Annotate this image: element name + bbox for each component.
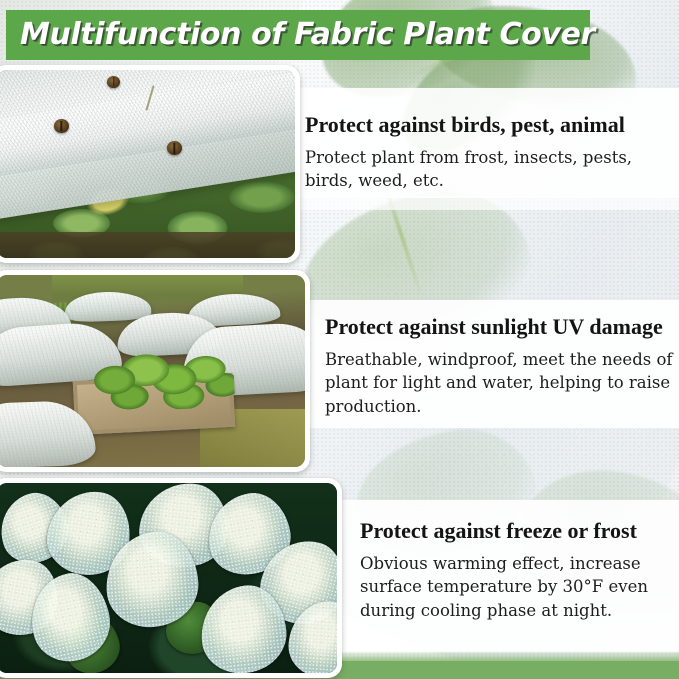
photo-frame [0, 275, 305, 467]
feature-text-uv-damage: Protect against sunlight UV damage Breat… [325, 314, 677, 419]
feature-text-freeze-frost: Protect against freeze or frost Obvious … [360, 518, 678, 623]
feature-photo-uv-damage [0, 270, 310, 472]
feature-body: Breathable, windproof, meet the needs of… [325, 348, 677, 419]
photo-soil [0, 232, 295, 258]
feature-text-birds-pest-animal: Protect against birds, pest, animal Prot… [305, 112, 677, 193]
product-infographic: Multifunction of Fabric Plant Cover [0, 0, 679, 679]
photo-frame [0, 483, 337, 673]
photo-lettuce [91, 348, 235, 413]
feature-heading: Protect against sunlight UV damage [325, 314, 677, 340]
feature-heading: Protect against freeze or frost [360, 518, 678, 544]
photo-beetle [54, 119, 69, 133]
feature-body: Protect plant from frost, insects, pests… [305, 146, 677, 194]
page-title: Multifunction of Fabric Plant Cover [20, 20, 595, 50]
text-backdrop-panel [286, 196, 679, 210]
photo-frame [0, 70, 295, 258]
title-banner: Multifunction of Fabric Plant Cover [6, 10, 590, 60]
feature-body: Obvious warming effect, increase surface… [360, 552, 678, 623]
feature-photo-birds-pest-animal [0, 65, 300, 263]
feature-photo-freeze-frost [0, 478, 342, 678]
photo-beetle [107, 76, 120, 88]
feature-heading: Protect against birds, pest, animal [305, 112, 677, 138]
